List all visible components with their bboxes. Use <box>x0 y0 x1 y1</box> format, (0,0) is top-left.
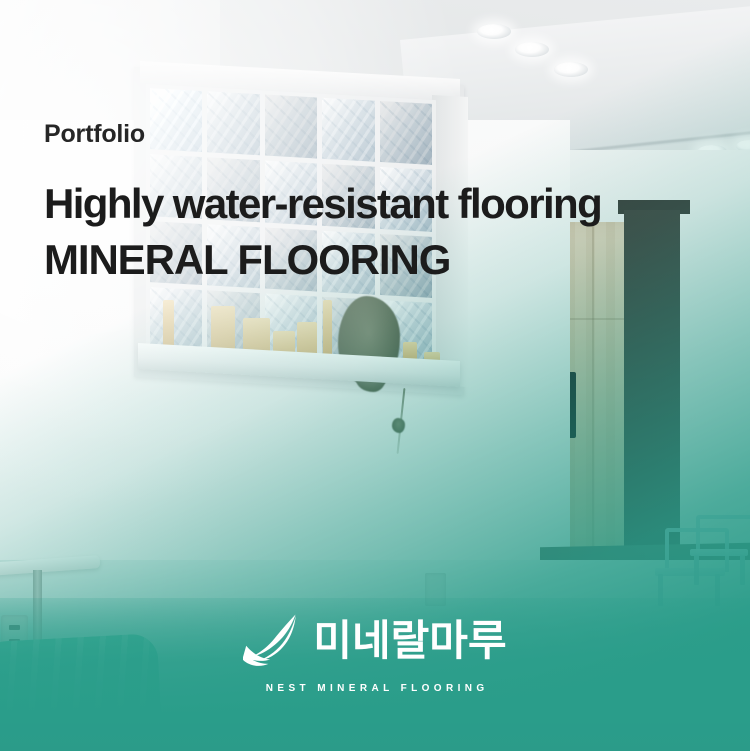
logo-tagline: NEST MINERAL FLOORING <box>261 683 488 694</box>
portfolio-banner: Portfolio Highly water-resistant floorin… <box>0 0 750 751</box>
page-title: Highly water-resistant flooring MINERAL … <box>44 183 704 281</box>
headline-line-2: MINERAL FLOORING <box>44 239 704 281</box>
sail-leaf-logo-mark <box>243 612 299 670</box>
logo-wordmark: 미네랄마루 <box>313 620 506 662</box>
logo-lockup: 미네랄마루 <box>243 612 506 670</box>
eyebrow-label: Portfolio <box>44 122 704 147</box>
headline-line-1: Highly water-resistant flooring <box>44 180 601 227</box>
banner-copy: Portfolio Highly water-resistant floorin… <box>44 122 704 281</box>
brand-logo: 미네랄마루 NEST MINERAL FLOORING <box>0 612 750 694</box>
